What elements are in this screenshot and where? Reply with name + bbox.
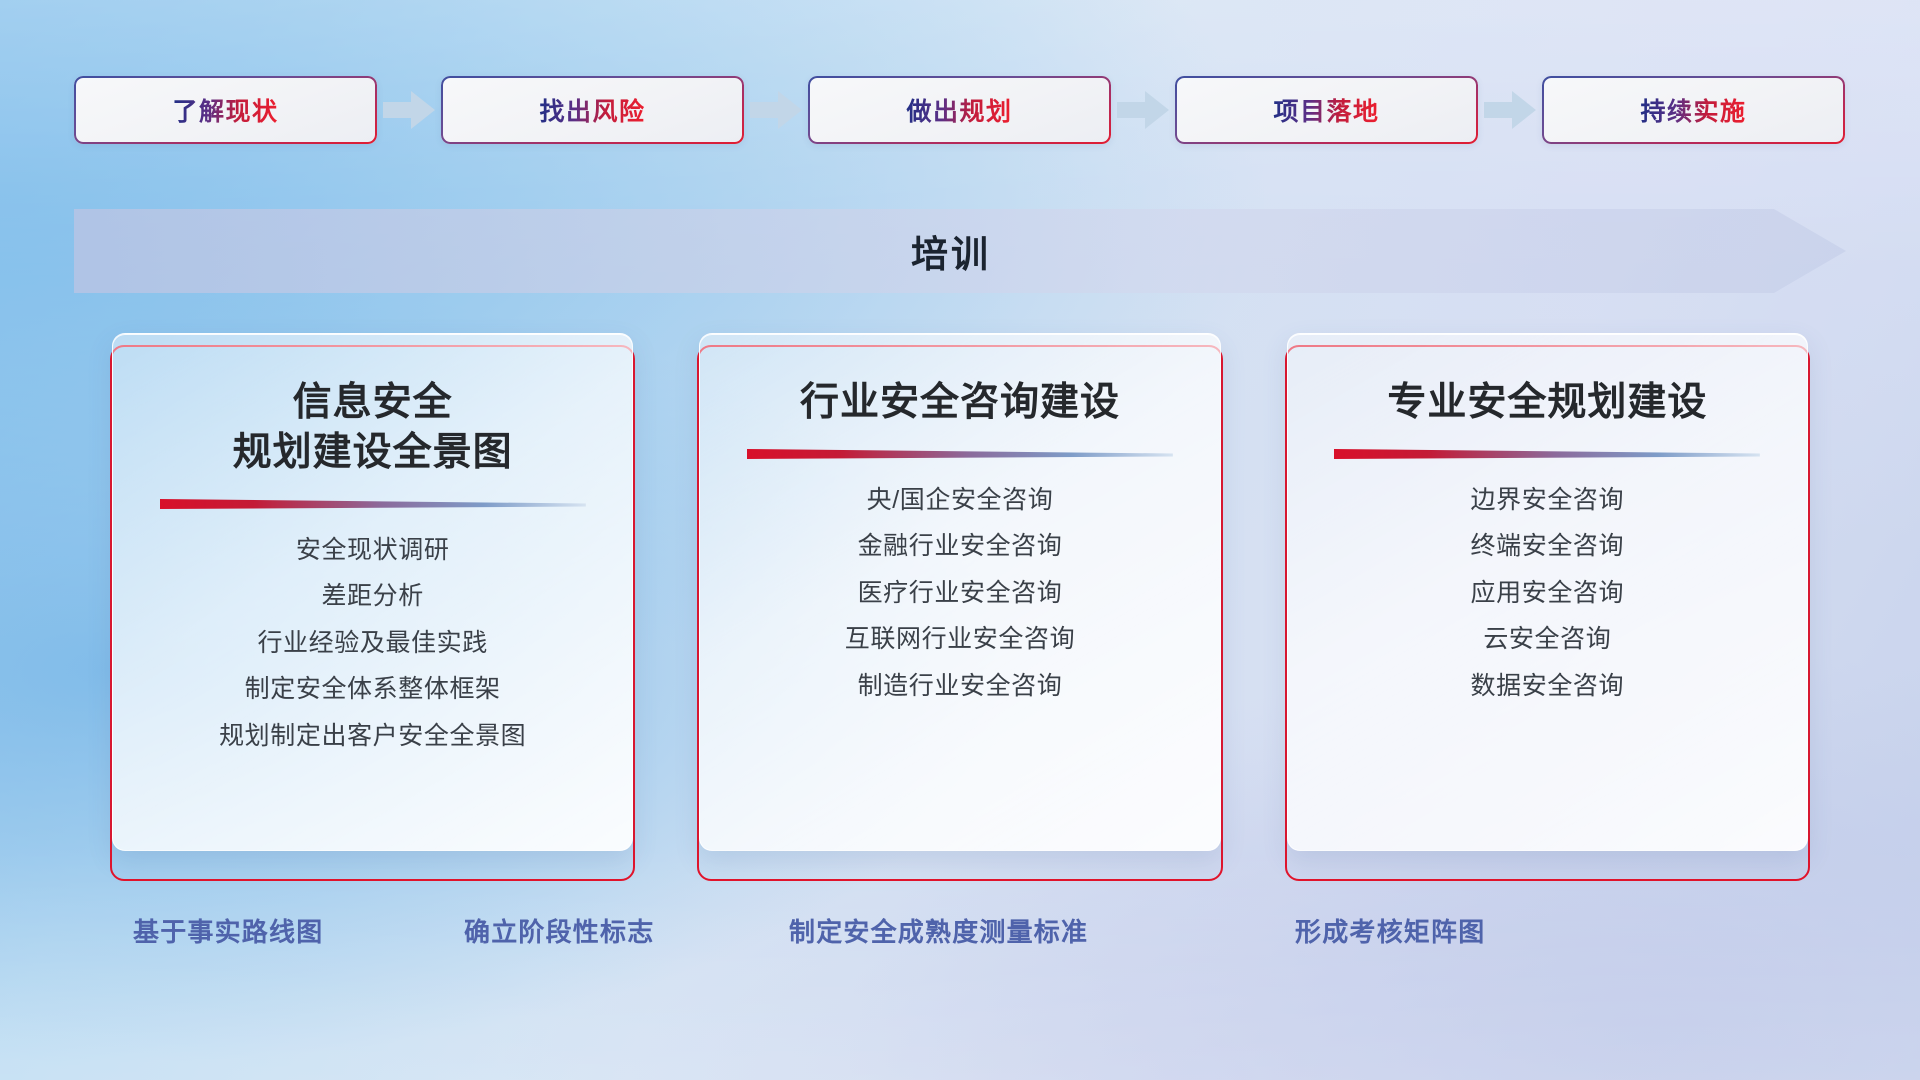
card-divider bbox=[747, 446, 1173, 460]
list-item: 规划制定出客户安全全景图 bbox=[219, 718, 526, 756]
step-label: 持续实施 bbox=[1640, 92, 1746, 128]
list-item: 应用安全咨询 bbox=[1471, 575, 1625, 613]
card-item-list: 央/国企安全咨询 金融行业安全咨询 医疗行业安全咨询 互联网行业安全咨询 制造行… bbox=[700, 482, 1219, 706]
footer-label-4: 形成考核矩阵图 bbox=[1295, 912, 1485, 949]
list-item: 差距分析 bbox=[321, 578, 423, 616]
list-item: 安全现状调研 bbox=[296, 532, 450, 570]
process-step-row: 了解现状 找出风险 做出规划 项目落地 bbox=[74, 76, 1846, 144]
step-label: 找出风险 bbox=[539, 92, 645, 128]
step-button-4[interactable]: 项目落地 bbox=[1175, 76, 1478, 144]
arrow-right-icon bbox=[1478, 86, 1542, 134]
step-label: 做出规划 bbox=[906, 92, 1012, 128]
step-button-1[interactable]: 了解现状 bbox=[74, 76, 377, 144]
footer-label-row: 基于事实路线图 确立阶段性标志 制定安全成熟度测量标准 形成考核矩阵图 bbox=[0, 912, 1920, 958]
card-panel: 信息安全 规划建设全景图 bbox=[112, 333, 633, 851]
card-row: 信息安全 规划建设全景图 bbox=[110, 333, 1810, 881]
card-item-list: 安全现状调研 差距分析 行业经验及最佳实践 制定安全体系整体框架 规划制定出客户… bbox=[113, 532, 632, 756]
card-item-list: 边界安全咨询 终端安全咨询 应用安全咨询 云安全咨询 数据安全咨询 bbox=[1288, 482, 1807, 706]
step-label: 项目落地 bbox=[1273, 92, 1379, 128]
arrow-right-icon bbox=[744, 86, 808, 134]
list-item: 医疗行业安全咨询 bbox=[858, 575, 1063, 613]
step-button-5[interactable]: 持续实施 bbox=[1542, 76, 1845, 144]
footer-label-2: 确立阶段性标志 bbox=[464, 912, 654, 949]
list-item: 金融行业安全咨询 bbox=[858, 528, 1063, 566]
card-divider bbox=[1334, 446, 1760, 460]
list-item: 边界安全咨询 bbox=[1471, 482, 1625, 520]
card-divider bbox=[160, 496, 586, 510]
card-title: 行业安全咨询建设 bbox=[782, 378, 1138, 428]
arrow-right-icon bbox=[377, 86, 441, 134]
step-button-3[interactable]: 做出规划 bbox=[808, 76, 1111, 144]
card-3[interactable]: 专业安全规划建设 bbox=[1285, 333, 1810, 881]
list-item: 终端安全咨询 bbox=[1471, 528, 1625, 566]
list-item: 互联网行业安全咨询 bbox=[845, 621, 1075, 659]
list-item: 制定安全体系整体框架 bbox=[245, 671, 501, 709]
list-item: 云安全咨询 bbox=[1483, 621, 1611, 659]
list-item: 行业经验及最佳实践 bbox=[257, 625, 487, 663]
card-title: 专业安全规划建设 bbox=[1369, 378, 1725, 428]
banner-title: 培训 bbox=[74, 209, 1846, 293]
card-2[interactable]: 行业安全咨询建设 bbox=[697, 333, 1222, 881]
step-button-2[interactable]: 找出风险 bbox=[441, 76, 744, 144]
card-1[interactable]: 信息安全 规划建设全景图 bbox=[110, 333, 635, 881]
card-panel: 专业安全规划建设 bbox=[1287, 333, 1808, 851]
arrow-right-icon bbox=[1111, 86, 1175, 134]
list-item: 央/国企安全咨询 bbox=[867, 482, 1054, 520]
card-title: 信息安全 规划建设全景图 bbox=[215, 378, 531, 478]
step-label: 了解现状 bbox=[172, 92, 278, 128]
list-item: 制造行业安全咨询 bbox=[858, 668, 1063, 706]
slide-stage: 了解现状 找出风险 做出规划 项目落地 bbox=[0, 0, 1920, 1080]
list-item: 数据安全咨询 bbox=[1471, 668, 1625, 706]
training-banner: 培训 bbox=[74, 209, 1846, 293]
footer-label-1: 基于事实路线图 bbox=[133, 912, 323, 949]
card-panel: 行业安全咨询建设 bbox=[699, 333, 1220, 851]
footer-label-3: 制定安全成熟度测量标准 bbox=[789, 912, 1088, 949]
